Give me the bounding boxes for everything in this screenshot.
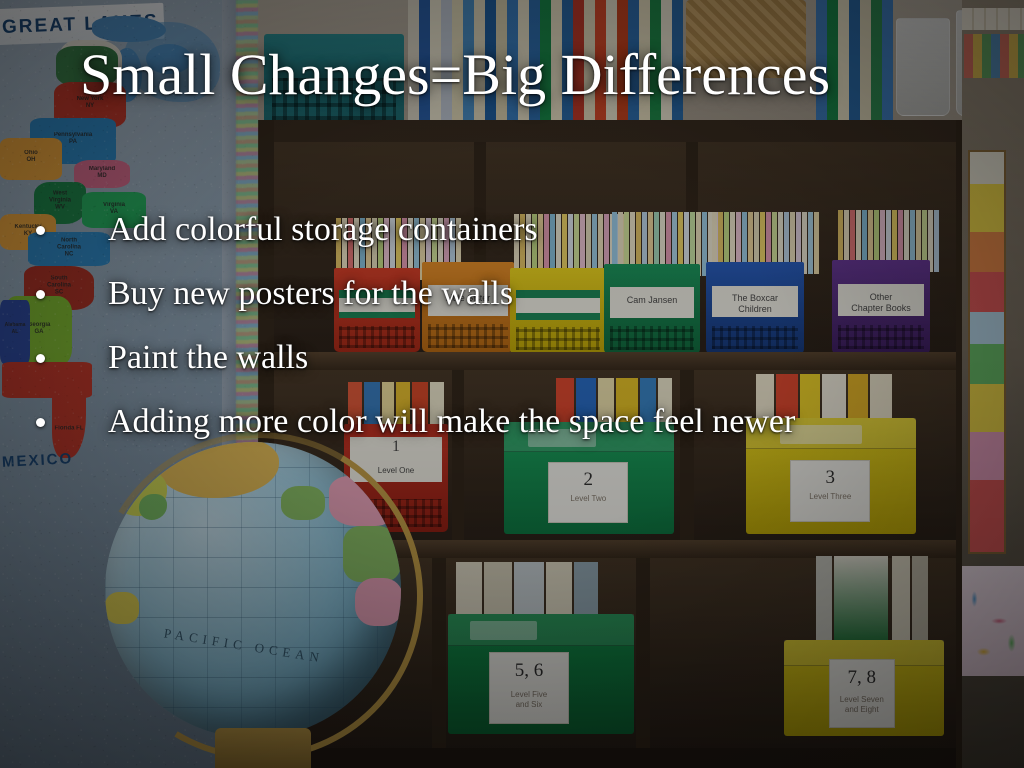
bullet-text: Adding more color will make the space fe… [108, 402, 795, 442]
bullet-item: Adding more color will make the space fe… [30, 390, 990, 454]
bullet-marker-icon [36, 418, 45, 427]
bullet-item: Buy new posters for the walls [30, 262, 990, 326]
bullet-marker-icon [36, 290, 45, 299]
presentation-slide: Little Sister [0, 0, 1024, 768]
bullet-item: Add colorful storage containers [30, 198, 990, 262]
bullet-list: Add colorful storage containers Buy new … [30, 198, 990, 454]
bullet-text: Buy new posters for the walls [108, 274, 513, 314]
slide-title: Small Changes=Big Differences [80, 44, 960, 106]
bullet-text: Add colorful storage containers [108, 210, 538, 250]
bullet-text: Paint the walls [108, 338, 308, 378]
bullet-marker-icon [36, 226, 45, 235]
slide-text-layer: Small Changes=Big Differences Add colorf… [0, 0, 1024, 768]
bullet-marker-icon [36, 354, 45, 363]
bullet-item: Paint the walls [30, 326, 990, 390]
